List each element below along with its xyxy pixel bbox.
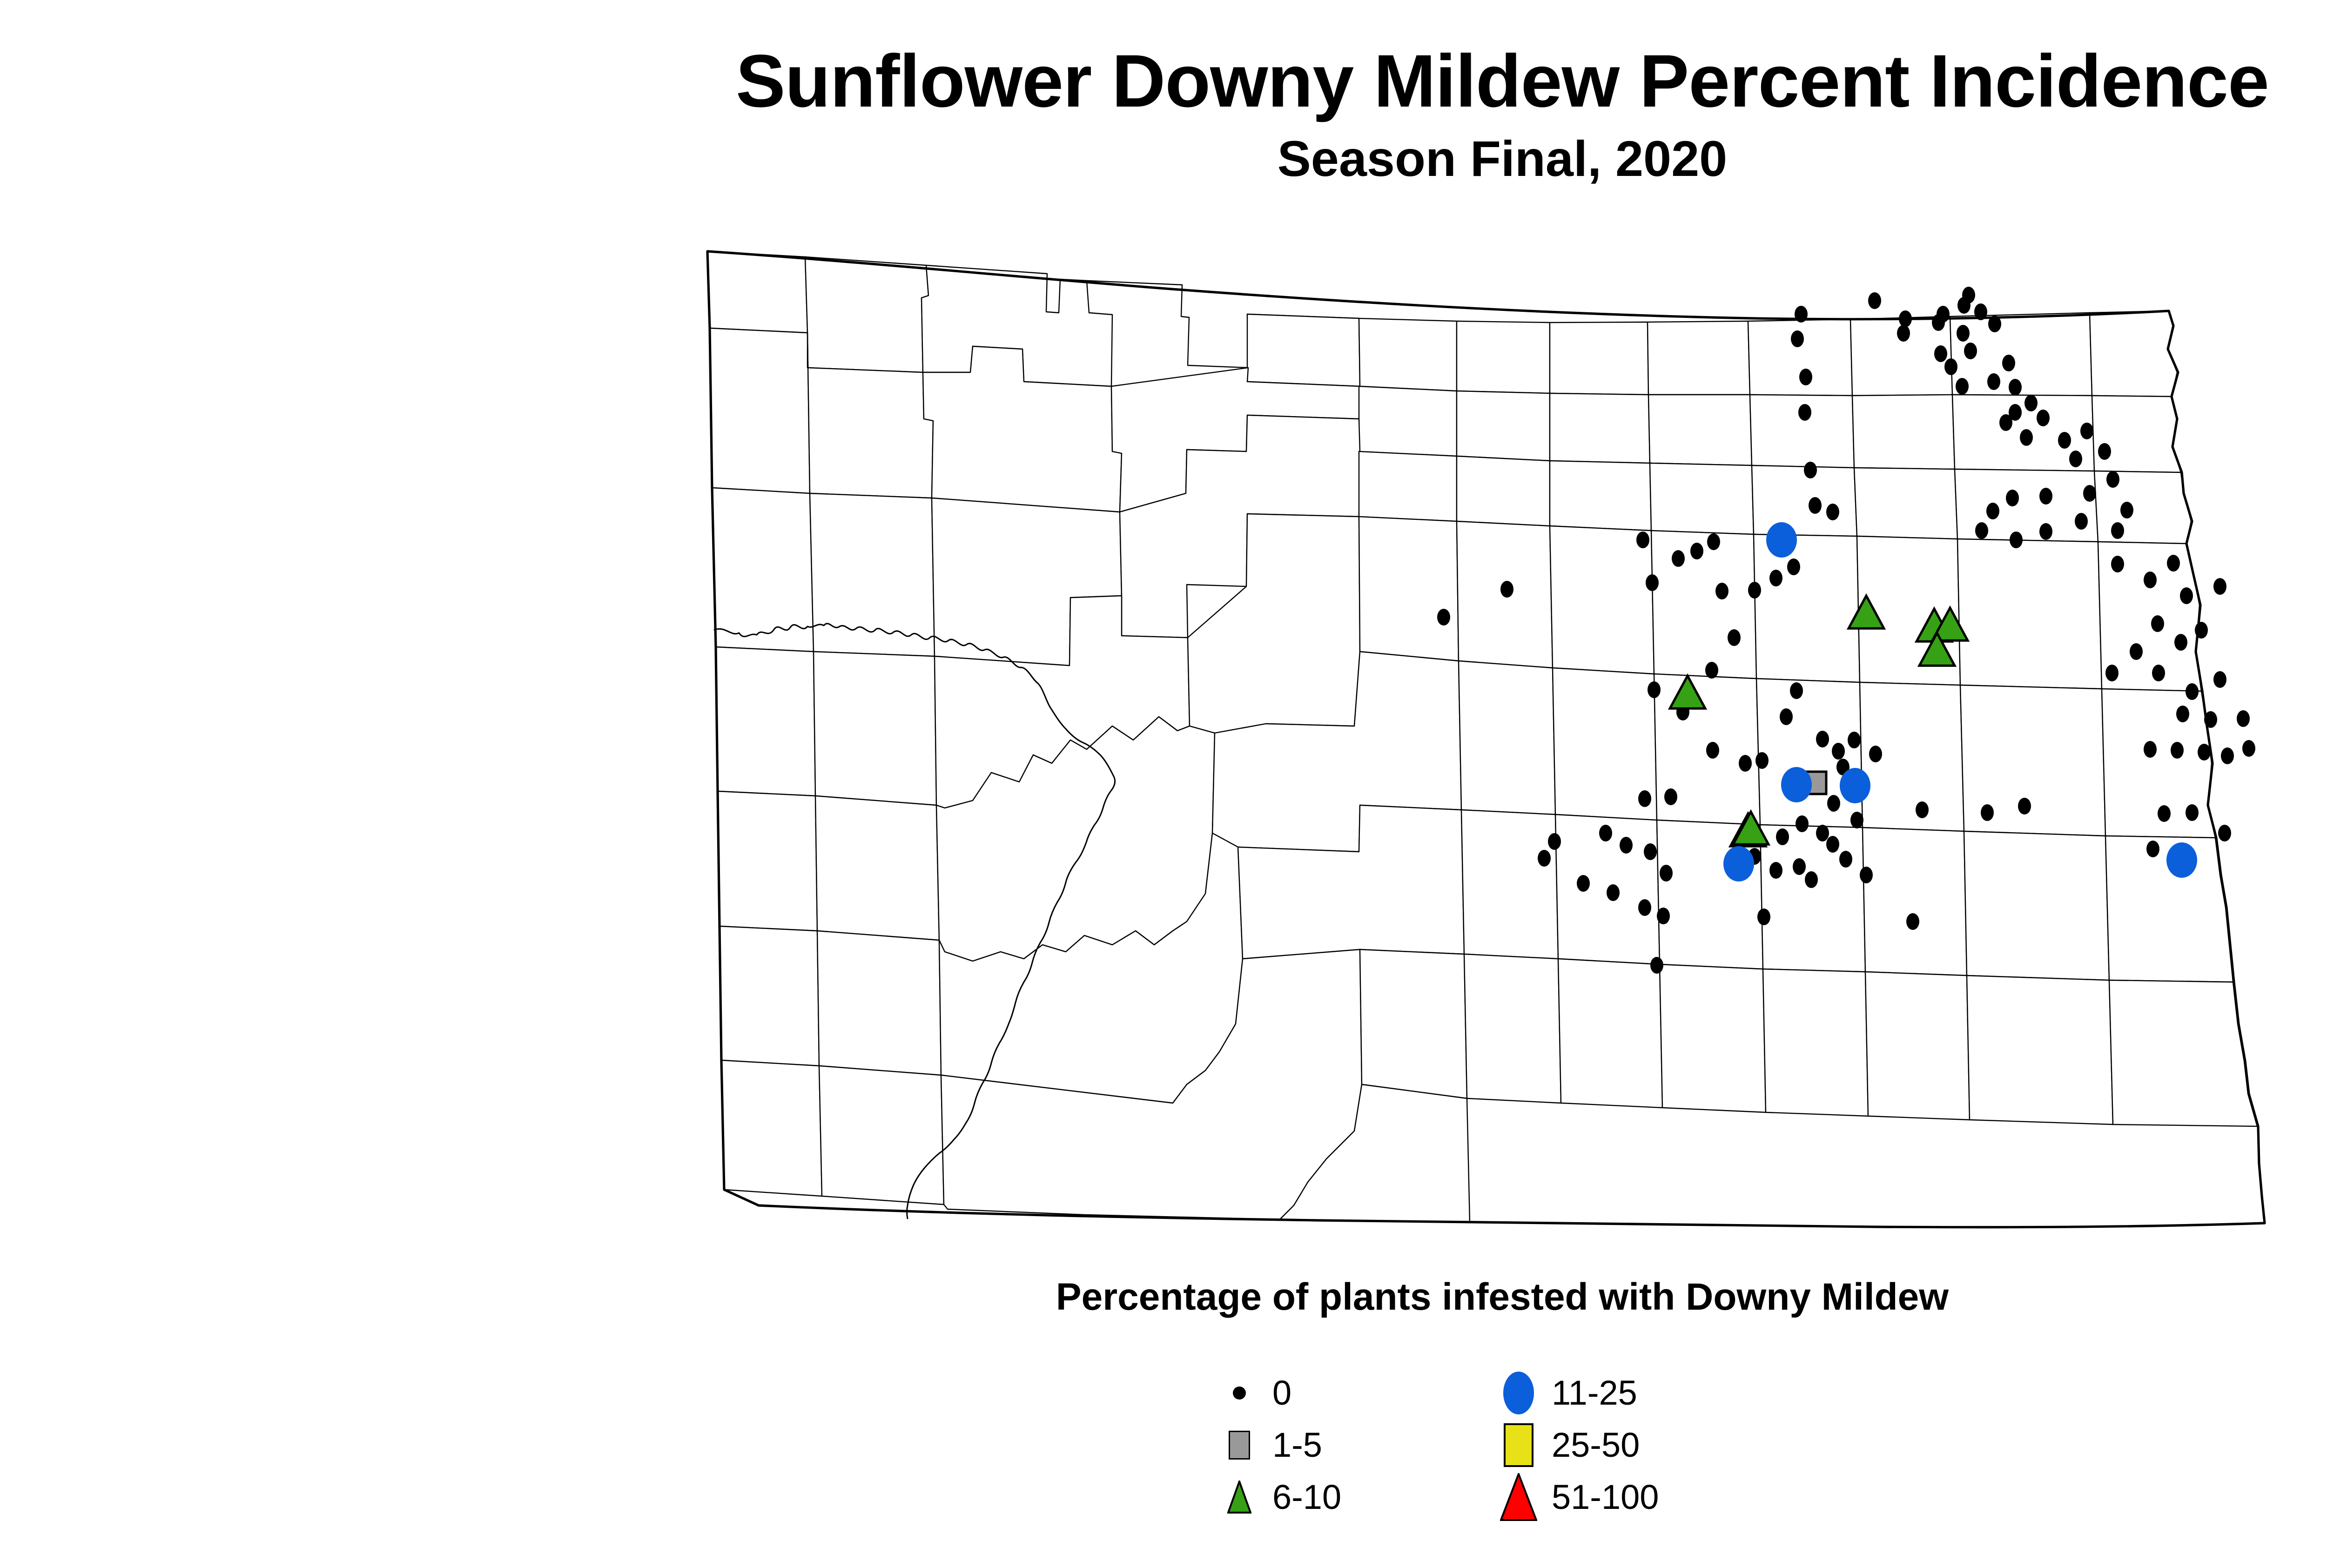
incidence-marker[interactable] (1766, 522, 1797, 558)
legend-swatch (1500, 1473, 1537, 1521)
legend-symbol-circle-small-icon (1214, 1367, 1265, 1419)
incidence-marker[interactable] (1964, 343, 1977, 359)
incidence-marker[interactable] (1869, 746, 1882, 762)
incidence-marker[interactable] (2167, 555, 2180, 572)
incidence-marker[interactable] (1840, 768, 1870, 803)
incidence-marker[interactable] (2166, 842, 2197, 878)
incidence-marker[interactable] (1804, 462, 1817, 478)
legend-entry-1-5[interactable]: 1-5 (1214, 1420, 1322, 1471)
north-dakota-county-map[interactable] (666, 233, 2327, 1257)
incidence-marker[interactable] (2120, 502, 2133, 518)
incidence-marker[interactable] (1723, 846, 1754, 882)
incidence-marker[interactable] (1755, 752, 1769, 769)
incidence-marker[interactable] (1937, 306, 1950, 323)
incidence-marker[interactable] (1796, 815, 1809, 832)
title-block: Sunflower Downy Mildew Percent Incidence… (0, 42, 2327, 185)
incidence-marker[interactable] (1839, 851, 1852, 868)
incidence-marker[interactable] (2098, 443, 2111, 460)
incidence-marker[interactable] (1715, 583, 1728, 599)
incidence-marker[interactable] (1956, 378, 1969, 395)
incidence-marker[interactable] (2024, 395, 2038, 411)
incidence-marker[interactable] (1620, 837, 1633, 854)
incidence-marker[interactable] (1672, 550, 1685, 567)
legend-swatch (1504, 1423, 1533, 1467)
incidence-marker[interactable] (1791, 330, 1804, 347)
legend-label: 25-50 (1552, 1428, 1640, 1462)
incidence-marker[interactable] (2130, 643, 2143, 660)
incidence-marker[interactable] (2018, 798, 2031, 814)
incidence-marker[interactable] (2144, 572, 2157, 588)
incidence-marker[interactable] (1644, 843, 1657, 860)
incidence-marker[interactable] (1636, 532, 1649, 548)
legend-label: 51-100 (1552, 1480, 1659, 1514)
incidence-marker[interactable] (2002, 355, 2015, 371)
incidence-marker[interactable] (2111, 556, 2124, 572)
incidence-marker[interactable] (1999, 414, 2012, 431)
incidence-marker[interactable] (1988, 316, 2001, 332)
incidence-marker[interactable] (1638, 790, 1651, 807)
map-svg (666, 233, 2327, 1257)
legend-swatch (1503, 1372, 1534, 1414)
legend-entry-51-100[interactable]: 51-100 (1493, 1472, 1659, 1523)
incidence-marker[interactable] (1577, 875, 1590, 892)
incidence-marker[interactable] (1776, 828, 1789, 845)
incidence-marker[interactable] (2186, 683, 2199, 700)
incidence-marker[interactable] (2006, 490, 2019, 506)
incidence-marker[interactable] (2158, 805, 2171, 822)
incidence-marker[interactable] (2152, 665, 2165, 681)
incidence-marker[interactable] (1957, 325, 1970, 342)
incidence-marker[interactable] (1981, 804, 1994, 821)
incidence-marker[interactable] (1638, 899, 1651, 916)
incidence-marker[interactable] (2146, 841, 2159, 857)
incidence-marker[interactable] (1607, 884, 1620, 901)
incidence-marker[interactable] (2221, 747, 2234, 764)
incidence-marker[interactable] (1793, 858, 1806, 875)
incidence-marker[interactable] (1798, 404, 1811, 421)
map-page: Sunflower Downy Mildew Percent Incidence… (0, 0, 2327, 1568)
incidence-marker[interactable] (1795, 306, 1808, 323)
legend-label: 11-25 (1552, 1376, 1637, 1410)
incidence-marker[interactable] (2174, 634, 2187, 651)
incidence-marker[interactable] (1816, 825, 1829, 841)
legend-label: 1-5 (1272, 1428, 1322, 1462)
incidence-marker[interactable] (1944, 358, 1957, 375)
incidence-marker[interactable] (2020, 429, 2033, 446)
incidence-marker[interactable] (1987, 373, 2000, 390)
incidence-marker[interactable] (1816, 731, 1829, 747)
incidence-marker[interactable] (1790, 682, 1803, 699)
legend: Percentage of plants infested with Downy… (0, 1275, 2327, 1521)
incidence-marker[interactable] (2213, 671, 2226, 688)
incidence-marker[interactable] (1728, 629, 1741, 646)
incidence-marker[interactable] (1599, 825, 1612, 841)
incidence-marker[interactable] (2010, 532, 2023, 548)
incidence-marker[interactable] (1860, 867, 1873, 883)
incidence-marker[interactable] (1660, 865, 1673, 882)
incidence-marker[interactable] (1705, 662, 1718, 679)
incidence-marker[interactable] (1809, 497, 1822, 514)
incidence-marker[interactable] (2195, 622, 2208, 639)
incidence-marker[interactable] (1646, 574, 1659, 591)
incidence-marker[interactable] (1832, 743, 1845, 760)
incidence-marker[interactable] (1805, 871, 1818, 888)
legend-symbol-circle-icon (1493, 1367, 1544, 1419)
incidence-marker[interactable] (2144, 741, 2157, 758)
incidence-marker[interactable] (1848, 732, 1861, 748)
incidence-marker[interactable] (1437, 609, 1450, 626)
incidence-marker[interactable] (1707, 533, 1720, 550)
incidence-marker[interactable] (1787, 559, 1800, 575)
legend-caption: Percentage of plants infested with Downy… (0, 1275, 2327, 1319)
incidence-marker[interactable] (1850, 812, 1863, 828)
incidence-marker[interactable] (1826, 836, 1839, 853)
incidence-marker[interactable] (1757, 908, 1770, 925)
incidence-marker[interactable] (2151, 615, 2164, 632)
legend-symbol-triangle-icon (1493, 1472, 1544, 1523)
incidence-marker[interactable] (2105, 665, 2119, 681)
incidence-marker[interactable] (1657, 908, 1670, 924)
incidence-marker[interactable] (2237, 710, 2250, 727)
incidence-marker[interactable] (1706, 742, 1719, 759)
legend-label: 6-10 (1272, 1480, 1341, 1514)
incidence-marker[interactable] (1799, 369, 1812, 385)
incidence-marker[interactable] (1906, 913, 1919, 930)
incidence-marker[interactable] (1962, 287, 1975, 303)
incidence-marker[interactable] (2204, 711, 2217, 728)
incidence-marker[interactable] (1975, 522, 1988, 539)
incidence-marker[interactable] (1648, 681, 1661, 698)
county-boundaries (707, 251, 2257, 1222)
incidence-marker[interactable] (1769, 862, 1782, 879)
incidence-marker[interactable] (1664, 788, 1677, 805)
legend-symbol-square-large-icon (1493, 1420, 1544, 1471)
incidence-marker[interactable] (1781, 767, 1812, 802)
incidence-marker[interactable] (1650, 957, 1663, 974)
incidence-marker[interactable] (2106, 471, 2119, 488)
incidence-marker[interactable] (1690, 543, 1703, 559)
incidence-marker[interactable] (2039, 523, 2052, 540)
incidence-marker[interactable] (2083, 485, 2096, 502)
incidence-marker[interactable] (1974, 303, 1987, 320)
incidence-marker[interactable] (1986, 503, 1999, 519)
legend-label: 0 (1272, 1376, 1291, 1410)
incidence-marker[interactable] (2080, 423, 2093, 439)
incidence-marker[interactable] (2111, 522, 2124, 539)
incidence-marker[interactable] (1916, 801, 1929, 818)
incidence-marker[interactable] (1500, 581, 1513, 598)
incidence-marker[interactable] (1827, 795, 1840, 812)
incidence-marker[interactable] (1780, 708, 1793, 725)
incidence-marker[interactable] (2186, 804, 2199, 821)
incidence-marker[interactable] (1934, 345, 1947, 362)
incidence-marker[interactable] (1769, 570, 1782, 586)
incidence-marker[interactable] (2198, 744, 2211, 760)
incidence-marker[interactable] (2075, 513, 2088, 530)
legend-entry-25-50[interactable]: 25-50 (1493, 1420, 1640, 1471)
incidence-marker[interactable] (1548, 833, 1561, 850)
legend-swatch (1233, 1386, 1246, 1400)
legend-swatch (1227, 1481, 1251, 1514)
legend-items: 01-56-1011-2525-5051-100 (1130, 1367, 1875, 1521)
incidence-marker[interactable] (2213, 578, 2226, 595)
legend-entry-11-25[interactable]: 11-25 (1493, 1367, 1637, 1419)
incidence-marker[interactable] (1868, 292, 1881, 309)
incidence-marker[interactable] (1826, 504, 1839, 520)
incidence-marker[interactable] (2037, 410, 2050, 426)
page-subtitle: Season Final, 2020 (0, 132, 2327, 185)
legend-entry-6-10[interactable]: 6-10 (1214, 1472, 1341, 1523)
incidence-marker[interactable] (1748, 582, 1761, 599)
incidence-marker[interactable] (1897, 325, 1910, 342)
legend-entry-0[interactable]: 0 (1214, 1367, 1291, 1419)
incidence-marker[interactable] (2242, 740, 2255, 757)
incidence-marker[interactable] (2039, 488, 2052, 505)
incidence-marker[interactable] (2218, 825, 2231, 841)
incidence-marker[interactable] (2171, 742, 2184, 759)
incidence-marker[interactable] (1899, 310, 1912, 327)
legend-symbol-triangle-icon (1214, 1472, 1265, 1523)
incidence-marker[interactable] (1538, 850, 1551, 867)
incidence-marker[interactable] (2180, 587, 2193, 604)
incidence-marker[interactable] (2058, 432, 2071, 449)
legend-swatch (1229, 1431, 1250, 1460)
incidence-marker[interactable] (2009, 379, 2022, 396)
page-title: Sunflower Downy Mildew Percent Incidence (0, 42, 2327, 120)
legend-symbol-square-icon (1214, 1420, 1265, 1471)
incidence-marker[interactable] (2069, 451, 2082, 467)
incidence-marker[interactable] (2176, 706, 2189, 722)
incidence-marker[interactable] (1739, 755, 1752, 772)
